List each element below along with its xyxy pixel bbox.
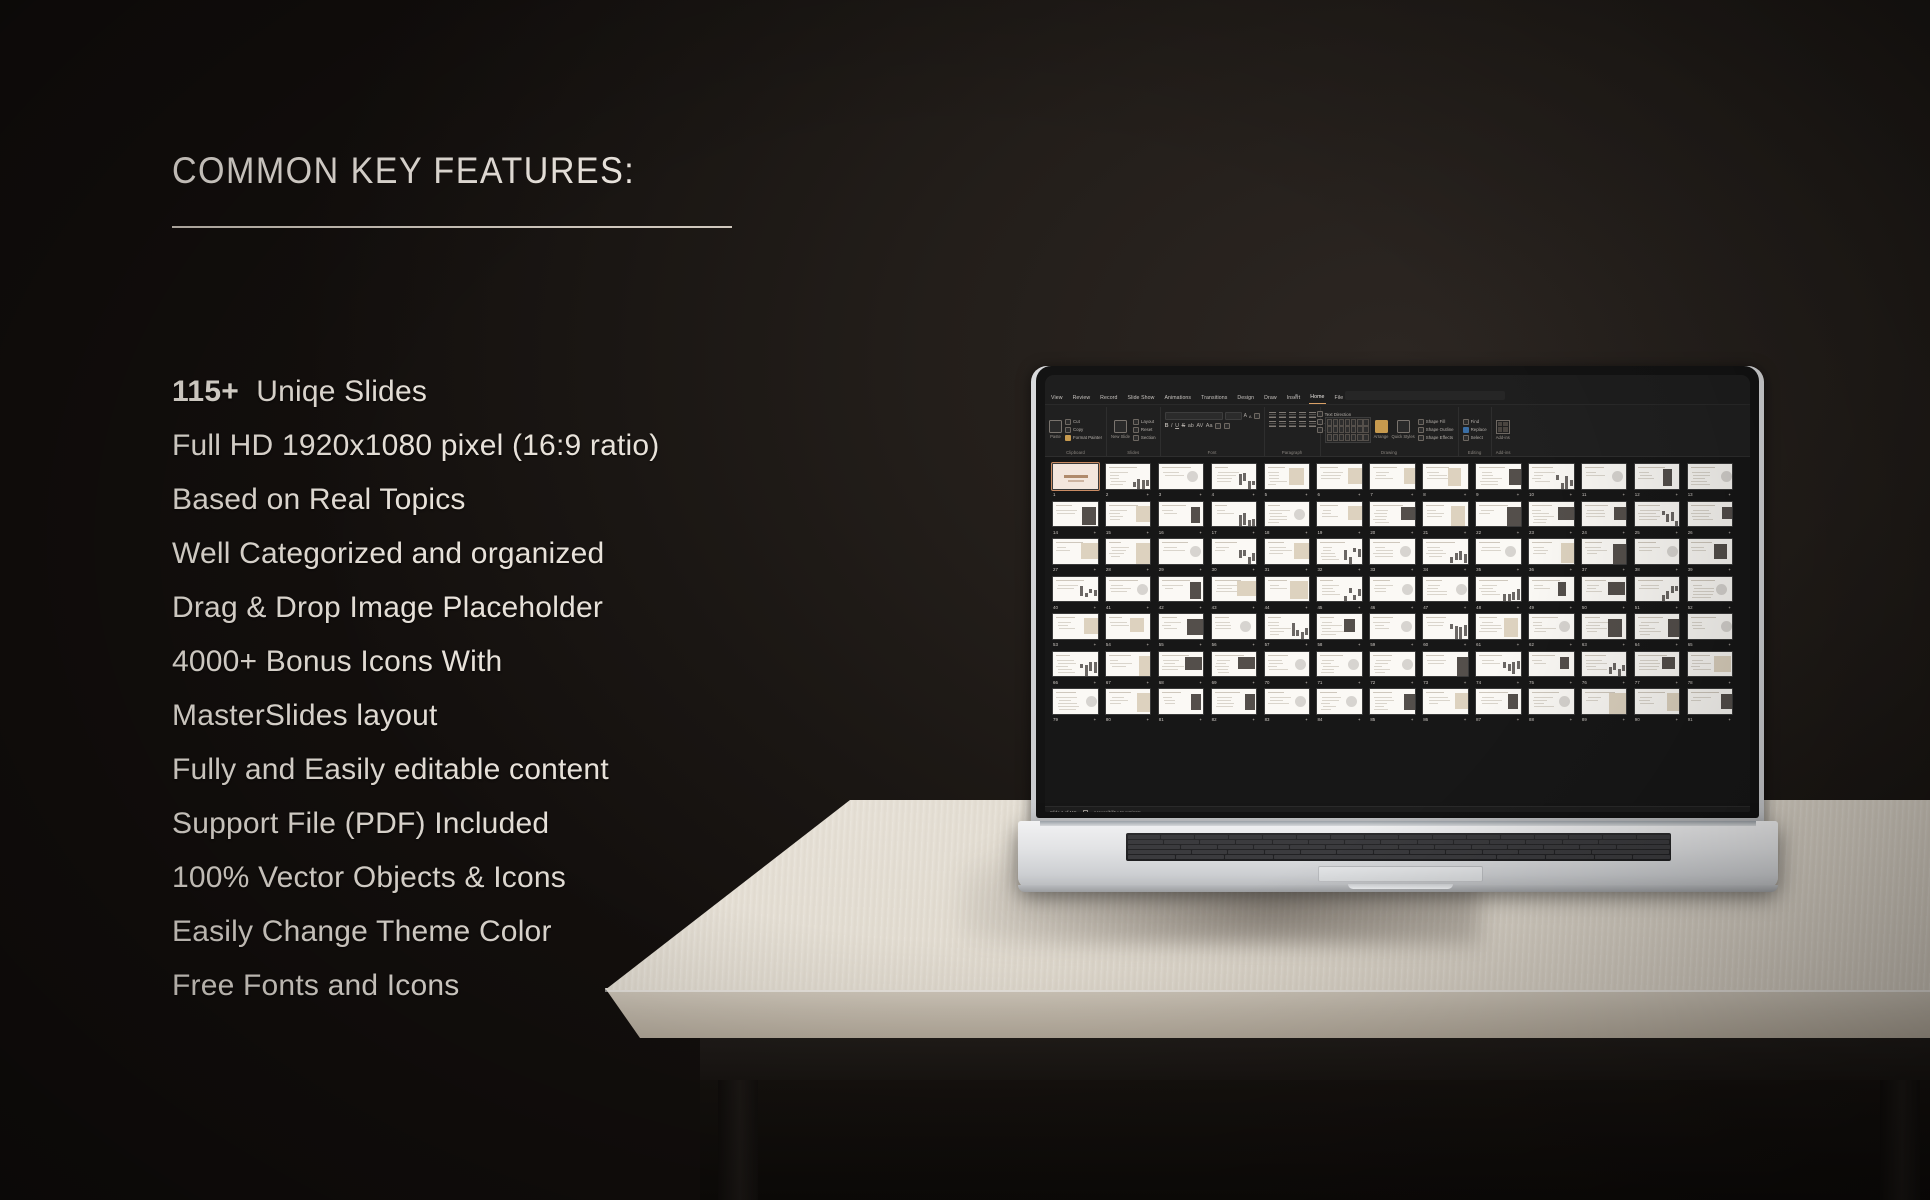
- slide-cell[interactable]: 41✦: [1105, 576, 1152, 612]
- align-center-icon[interactable]: [1279, 421, 1286, 427]
- slide-cell[interactable]: 27✦: [1052, 538, 1099, 574]
- shape-swatch[interactable]: [1363, 434, 1369, 441]
- slide-cell[interactable]: 48✦: [1475, 576, 1522, 612]
- slide-thumbnail[interactable]: [1105, 463, 1152, 490]
- slide-cell[interactable]: 74✦: [1475, 651, 1522, 687]
- slide-cell[interactable]: 90✦: [1634, 688, 1681, 724]
- add-ins-button[interactable]: Add-ins: [1496, 420, 1510, 440]
- copy-button[interactable]: Copy: [1065, 427, 1102, 433]
- ribbon-tab-review[interactable]: Review: [1072, 395, 1092, 404]
- increase-indent-icon[interactable]: [1299, 412, 1306, 418]
- keyboard-key[interactable]: [1236, 840, 1271, 844]
- keyboard-key[interactable]: [1519, 850, 1554, 854]
- slide-thumbnail[interactable]: [1316, 538, 1363, 565]
- keyboard-key[interactable]: [1337, 850, 1372, 854]
- slide-transition-icon[interactable]: ✦: [1569, 642, 1572, 647]
- slide-cell[interactable]: 69✦: [1211, 651, 1258, 687]
- keyboard-key[interactable]: [1617, 845, 1670, 849]
- slide-thumbnail[interactable]: [1422, 463, 1469, 490]
- slide-cell[interactable]: 11✦: [1581, 463, 1628, 499]
- slide-transition-icon[interactable]: ✦: [1093, 530, 1096, 535]
- slide-transition-icon[interactable]: ✦: [1516, 492, 1519, 497]
- slide-transition-icon[interactable]: ✦: [1305, 492, 1308, 497]
- slide-transition-icon[interactable]: ✦: [1463, 605, 1466, 610]
- slide-thumbnail[interactable]: [1528, 651, 1575, 678]
- slide-transition-icon[interactable]: ✦: [1410, 530, 1413, 535]
- ribbon-tab-insert[interactable]: Insert: [1286, 395, 1302, 404]
- slide-transition-icon[interactable]: ✦: [1728, 530, 1731, 535]
- slide-thumbnail[interactable]: [1264, 501, 1311, 528]
- slide-thumbnail[interactable]: [1581, 501, 1628, 528]
- ribbon-group-font[interactable]: A A B I U S ab AV Aa: [1161, 407, 1265, 456]
- slide-cell[interactable]: 57✦: [1264, 613, 1311, 649]
- keyboard-key[interactable]: [1490, 840, 1525, 844]
- slide-thumbnail[interactable]: [1264, 538, 1311, 565]
- slide-cell[interactable]: 89✦: [1581, 688, 1628, 724]
- slide-thumbnail[interactable]: [1475, 463, 1522, 490]
- text-highlight-icon[interactable]: [1215, 423, 1221, 429]
- slide-cell[interactable]: 9✦: [1475, 463, 1522, 499]
- shape-swatch[interactable]: [1351, 434, 1357, 441]
- ribbon-group-drawing[interactable]: Arrange Quick Styles Shape Fill Shape Ou…: [1321, 407, 1459, 456]
- shape-swatch[interactable]: [1333, 426, 1339, 433]
- ribbon-tab-strip[interactable]: ViewReviewRecordSlide ShowAnimationsTran…: [1045, 388, 1750, 405]
- slide-thumbnail[interactable]: [1687, 538, 1734, 565]
- italic-button[interactable]: I: [1171, 423, 1173, 429]
- keyboard-key[interactable]: [1164, 840, 1199, 844]
- ribbon-tab-file[interactable]: File: [1334, 395, 1345, 404]
- slide-cell[interactable]: 91✦: [1687, 688, 1734, 724]
- keyboard-key[interactable]: [1435, 845, 1470, 849]
- underline-button[interactable]: U: [1175, 423, 1179, 429]
- slide-transition-icon[interactable]: ✦: [1622, 642, 1625, 647]
- keyboard-key[interactable]: [1365, 835, 1398, 839]
- font-size-select[interactable]: [1225, 412, 1242, 420]
- slide-thumbnail[interactable]: [1369, 651, 1416, 678]
- slide-transition-icon[interactable]: ✦: [1252, 605, 1255, 610]
- slide-cell[interactable]: 55✦: [1158, 613, 1205, 649]
- keyboard-key[interactable]: [1309, 840, 1344, 844]
- slide-transition-icon[interactable]: ✦: [1675, 530, 1678, 535]
- keyboard-key[interactable]: [1399, 845, 1434, 849]
- shapes-gallery[interactable]: [1325, 417, 1371, 443]
- slide-transition-icon[interactable]: ✦: [1199, 642, 1202, 647]
- slide-cell[interactable]: 36✦: [1528, 538, 1575, 574]
- slide-thumbnail[interactable]: [1634, 501, 1681, 528]
- slide-thumbnail[interactable]: [1687, 576, 1734, 603]
- slide-transition-icon[interactable]: ✦: [1410, 492, 1413, 497]
- slide-cell[interactable]: 12✦: [1634, 463, 1681, 499]
- slide-cell[interactable]: 1: [1052, 463, 1099, 499]
- slide-cell[interactable]: 82✦: [1211, 688, 1258, 724]
- slide-transition-icon[interactable]: ✦: [1622, 492, 1625, 497]
- ribbon-group-clipboard[interactable]: Paste Cut Copy Format Painter Clipboard: [1045, 407, 1107, 456]
- slide-transition-icon[interactable]: ✦: [1675, 492, 1678, 497]
- slide-thumbnail[interactable]: [1316, 613, 1363, 640]
- search-input[interactable]: [1345, 391, 1505, 400]
- strikethrough-button[interactable]: S: [1182, 423, 1186, 429]
- slide-cell[interactable]: 49✦: [1528, 576, 1575, 612]
- shape-outline-button[interactable]: Shape Outline: [1418, 427, 1454, 433]
- slide-cell[interactable]: 61✦: [1475, 613, 1522, 649]
- slide-thumbnail[interactable]: [1052, 688, 1099, 715]
- slide-thumbnail[interactable]: [1369, 538, 1416, 565]
- keyboard-key[interactable]: [1290, 845, 1325, 849]
- slide-transition-icon[interactable]: ✦: [1358, 605, 1361, 610]
- slide-thumbnail[interactable]: [1687, 651, 1734, 678]
- slide-cell[interactable]: 5✦: [1264, 463, 1311, 499]
- keyboard-key[interactable]: [1381, 840, 1416, 844]
- keyboard-key[interactable]: [1454, 840, 1489, 844]
- slide-transition-icon[interactable]: ✦: [1252, 530, 1255, 535]
- slide-transition-icon[interactable]: ✦: [1252, 717, 1255, 722]
- slide-transition-icon[interactable]: ✦: [1305, 605, 1308, 610]
- keyboard-key[interactable]: [1297, 835, 1330, 839]
- ribbon-tab-design[interactable]: Design: [1236, 395, 1255, 404]
- slide-cell[interactable]: 18✦: [1264, 501, 1311, 537]
- replace-button[interactable]: Replace: [1463, 427, 1487, 433]
- slide-cell[interactable]: 24✦: [1581, 501, 1628, 537]
- slide-transition-icon[interactable]: ✦: [1516, 605, 1519, 610]
- ribbon-tab-view[interactable]: View: [1050, 395, 1064, 404]
- slide-cell[interactable]: 47✦: [1422, 576, 1469, 612]
- slide-cell[interactable]: 8✦: [1422, 463, 1469, 499]
- keyboard-key[interactable]: [1192, 850, 1227, 854]
- clear-formatting-icon[interactable]: [1254, 413, 1260, 419]
- slide-transition-icon[interactable]: ✦: [1675, 717, 1678, 722]
- keyboard-key[interactable]: [1483, 850, 1518, 854]
- columns-icon[interactable]: [1309, 421, 1316, 427]
- align-left-icon[interactable]: [1269, 421, 1276, 427]
- slide-cell[interactable]: 35✦: [1475, 538, 1522, 574]
- keyboard-key[interactable]: [1274, 855, 1495, 859]
- keyboard-key[interactable]: [1418, 840, 1453, 844]
- slide-thumbnail[interactable]: [1264, 576, 1311, 603]
- slide-transition-icon[interactable]: ✦: [1305, 717, 1308, 722]
- keyboard-key[interactable]: [1195, 835, 1228, 839]
- slide-thumbnail[interactable]: [1052, 538, 1099, 565]
- shape-swatch[interactable]: [1327, 434, 1333, 441]
- slide-thumbnail[interactable]: [1634, 651, 1681, 678]
- slide-thumbnail[interactable]: [1369, 613, 1416, 640]
- line-spacing-icon[interactable]: [1309, 412, 1316, 418]
- slide-transition-icon[interactable]: ✦: [1516, 680, 1519, 685]
- keyboard-key[interactable]: [1229, 835, 1262, 839]
- slide-transition-icon[interactable]: ✦: [1622, 605, 1625, 610]
- slide-cell[interactable]: 23✦: [1528, 501, 1575, 537]
- slide-transition-icon[interactable]: ✦: [1622, 530, 1625, 535]
- slide-cell[interactable]: 52✦: [1687, 576, 1734, 612]
- slide-transition-icon[interactable]: ✦: [1252, 492, 1255, 497]
- slide-cell[interactable]: 64✦: [1634, 613, 1681, 649]
- slide-thumbnail[interactable]: [1211, 651, 1258, 678]
- keyboard-key[interactable]: [1301, 850, 1336, 854]
- slide-thumbnail[interactable]: [1316, 463, 1363, 490]
- slide-cell[interactable]: 40✦: [1052, 576, 1099, 612]
- slide-transition-icon[interactable]: ✦: [1358, 717, 1361, 722]
- slide-thumbnail[interactable]: [1158, 463, 1205, 490]
- keyboard-key[interactable]: [1331, 835, 1364, 839]
- slide-thumbnail[interactable]: [1369, 501, 1416, 528]
- slide-transition-icon[interactable]: ✦: [1199, 605, 1202, 610]
- bullets-icon[interactable]: [1269, 412, 1276, 418]
- slide-transition-icon[interactable]: ✦: [1622, 680, 1625, 685]
- slide-thumbnail[interactable]: [1581, 538, 1628, 565]
- slide-thumbnail[interactable]: [1687, 688, 1734, 715]
- slide-thumbnail[interactable]: [1316, 651, 1363, 678]
- slide-transition-icon[interactable]: ✦: [1199, 530, 1202, 535]
- slide-thumbnail[interactable]: [1211, 538, 1258, 565]
- shape-swatch[interactable]: [1363, 419, 1369, 426]
- slide-thumbnail[interactable]: [1211, 613, 1258, 640]
- slide-transition-icon[interactable]: ✦: [1728, 680, 1731, 685]
- slide-cell[interactable]: 75✦: [1528, 651, 1575, 687]
- keyboard-key[interactable]: [1508, 845, 1543, 849]
- keyboard-key[interactable]: [1176, 855, 1224, 859]
- slide-transition-icon[interactable]: ✦: [1199, 567, 1202, 572]
- keyboard-key[interactable]: [1433, 835, 1466, 839]
- accessibility-icon[interactable]: [1083, 810, 1088, 813]
- slide-transition-icon[interactable]: ✦: [1358, 530, 1361, 535]
- align-right-icon[interactable]: [1289, 421, 1296, 427]
- slide-thumbnail[interactable]: [1422, 538, 1469, 565]
- slide-transition-icon[interactable]: ✦: [1093, 567, 1096, 572]
- keyboard-key[interactable]: [1181, 845, 1216, 849]
- slide-thumbnail[interactable]: [1528, 576, 1575, 603]
- keyboard-key[interactable]: [1526, 840, 1561, 844]
- slide-cell[interactable]: 46✦: [1369, 576, 1416, 612]
- ribbon-group-paragraph[interactable]: Text Direction Align Text Convert to Sma…: [1265, 407, 1321, 456]
- slide-cell[interactable]: 83✦: [1264, 688, 1311, 724]
- font-color-icon[interactable]: [1224, 423, 1230, 429]
- slide-thumbnail[interactable]: [1581, 688, 1628, 715]
- slide-transition-icon[interactable]: ✦: [1358, 492, 1361, 497]
- slide-thumbnail[interactable]: [1634, 613, 1681, 640]
- shadow-button[interactable]: ab: [1188, 423, 1194, 429]
- keyboard-key[interactable]: [1263, 835, 1296, 839]
- slide-transition-icon[interactable]: ✦: [1358, 680, 1361, 685]
- slide-thumbnail[interactable]: [1581, 463, 1628, 490]
- slide-thumbnail[interactable]: [1105, 501, 1152, 528]
- slide-transition-icon[interactable]: ✦: [1463, 492, 1466, 497]
- font-family-select[interactable]: [1165, 412, 1223, 420]
- slide-cell[interactable]: 14✦: [1052, 501, 1099, 537]
- quick-styles-button[interactable]: Quick Styles: [1391, 420, 1414, 439]
- slide-thumbnail[interactable]: [1528, 688, 1575, 715]
- slide-cell[interactable]: 77✦: [1634, 651, 1681, 687]
- shape-swatch[interactable]: [1333, 419, 1339, 426]
- slide-thumbnail[interactable]: [1052, 463, 1099, 490]
- slide-cell[interactable]: 65✦: [1687, 613, 1734, 649]
- slide-transition-icon[interactable]: ✦: [1199, 680, 1202, 685]
- slide-thumbnail[interactable]: [1158, 651, 1205, 678]
- slide-cell[interactable]: 59✦: [1369, 613, 1416, 649]
- slide-transition-icon[interactable]: ✦: [1146, 567, 1149, 572]
- slide-cell[interactable]: 84✦: [1316, 688, 1363, 724]
- slide-thumbnail[interactable]: [1369, 576, 1416, 603]
- slide-thumbnail[interactable]: [1316, 576, 1363, 603]
- slide-cell[interactable]: 62✦: [1528, 613, 1575, 649]
- slide-transition-icon[interactable]: ✦: [1675, 642, 1678, 647]
- bold-button[interactable]: B: [1165, 423, 1169, 429]
- keyboard-key[interactable]: [1161, 835, 1194, 839]
- slide-cell[interactable]: 3✦: [1158, 463, 1205, 499]
- slide-thumbnail[interactable]: [1687, 463, 1734, 490]
- slide-transition-icon[interactable]: ✦: [1516, 530, 1519, 535]
- change-case-button[interactable]: Aa: [1206, 423, 1213, 429]
- ribbon-group-slides[interactable]: New Slide Layout Reset Section Slides: [1107, 407, 1161, 456]
- slide-thumbnail[interactable]: [1369, 463, 1416, 490]
- slide-transition-icon[interactable]: ✦: [1463, 530, 1466, 535]
- keyboard-key[interactable]: [1374, 850, 1409, 854]
- slide-thumbnail[interactable]: [1158, 538, 1205, 565]
- slide-cell[interactable]: 2✦: [1105, 463, 1152, 499]
- slide-cell[interactable]: 81✦: [1158, 688, 1205, 724]
- cut-button[interactable]: Cut: [1065, 419, 1102, 425]
- slide-transition-icon[interactable]: ✦: [1569, 605, 1572, 610]
- slide-transition-icon[interactable]: ✦: [1146, 492, 1149, 497]
- slide-thumbnail[interactable]: [1105, 651, 1152, 678]
- slide-cell[interactable]: 7✦: [1369, 463, 1416, 499]
- keyboard-key[interactable]: [1555, 850, 1590, 854]
- slide-thumbnail[interactable]: [1052, 613, 1099, 640]
- slide-transition-icon[interactable]: ✦: [1358, 567, 1361, 572]
- shape-swatch[interactable]: [1345, 434, 1351, 441]
- slide-cell[interactable]: 71✦: [1316, 651, 1363, 687]
- slide-thumbnail[interactable]: [1687, 501, 1734, 528]
- slide-cell[interactable]: 21✦: [1422, 501, 1469, 537]
- keyboard-key[interactable]: [1128, 850, 1192, 854]
- slide-transition-icon[interactable]: ✦: [1093, 642, 1096, 647]
- slide-cell[interactable]: 87✦: [1475, 688, 1522, 724]
- ribbon-group-addins[interactable]: Add-ins Add-ins: [1492, 407, 1515, 456]
- slide-cell[interactable]: 42✦: [1158, 576, 1205, 612]
- slide-thumbnail[interactable]: [1158, 576, 1205, 603]
- keyboard-key[interactable]: [1569, 835, 1602, 839]
- slide-cell[interactable]: 30✦: [1211, 538, 1258, 574]
- slide-transition-icon[interactable]: ✦: [1410, 567, 1413, 572]
- shape-swatch[interactable]: [1357, 434, 1363, 441]
- slide-cell[interactable]: 54✦: [1105, 613, 1152, 649]
- slide-transition-icon[interactable]: ✦: [1675, 567, 1678, 572]
- slide-thumbnail[interactable]: [1211, 576, 1258, 603]
- search-icon[interactable]: [1295, 394, 1298, 397]
- justify-icon[interactable]: [1299, 421, 1306, 427]
- shape-swatch[interactable]: [1345, 419, 1351, 426]
- shape-effects-button[interactable]: Shape Effects: [1418, 435, 1454, 441]
- slide-cell[interactable]: 22✦: [1475, 501, 1522, 537]
- slide-transition-icon[interactable]: ✦: [1728, 605, 1731, 610]
- slide-transition-icon[interactable]: ✦: [1516, 642, 1519, 647]
- slide-thumbnail[interactable]: [1422, 688, 1469, 715]
- slide-transition-icon[interactable]: ✦: [1093, 605, 1096, 610]
- slide-cell[interactable]: 15✦: [1105, 501, 1152, 537]
- ribbon-tab-draw[interactable]: Draw: [1263, 395, 1278, 404]
- keyboard-key[interactable]: [1254, 845, 1289, 849]
- keyboard-key[interactable]: [1228, 850, 1263, 854]
- keyboard-key[interactable]: [1467, 835, 1500, 839]
- slide-cell[interactable]: 17✦: [1211, 501, 1258, 537]
- accessibility-status[interactable]: Accessibility: Investigate: [1094, 810, 1142, 813]
- slide-cell[interactable]: 79✦: [1052, 688, 1099, 724]
- keyboard-key[interactable]: [1599, 840, 1670, 844]
- slide-transition-icon[interactable]: ✦: [1463, 642, 1466, 647]
- shape-swatch[interactable]: [1363, 426, 1369, 433]
- slide-cell[interactable]: 63✦: [1581, 613, 1628, 649]
- keyboard-key[interactable]: [1535, 835, 1568, 839]
- slide-thumbnail[interactable]: [1211, 501, 1258, 528]
- shape-swatch[interactable]: [1339, 434, 1345, 441]
- slide-transition-icon[interactable]: ✦: [1093, 680, 1096, 685]
- trackpad[interactable]: [1318, 866, 1483, 882]
- slide-transition-icon[interactable]: ✦: [1305, 680, 1308, 685]
- slide-thumbnail[interactable]: [1105, 613, 1152, 640]
- keyboard-key[interactable]: [1265, 850, 1300, 854]
- slide-thumbnail[interactable]: [1634, 463, 1681, 490]
- slide-cell[interactable]: 60✦: [1422, 613, 1469, 649]
- ribbon-tab-transitions[interactable]: Transitions: [1200, 395, 1228, 404]
- keyboard-key[interactable]: [1410, 850, 1445, 854]
- slide-thumbnail[interactable]: [1634, 538, 1681, 565]
- slide-transition-icon[interactable]: ✦: [1410, 717, 1413, 722]
- slide-thumbnail[interactable]: [1105, 538, 1152, 565]
- keyboard-key[interactable]: [1363, 845, 1398, 849]
- slide-transition-icon[interactable]: ✦: [1728, 642, 1731, 647]
- slide-cell[interactable]: 10✦: [1528, 463, 1575, 499]
- slide-thumbnail[interactable]: [1422, 651, 1469, 678]
- slide-thumbnail[interactable]: [1475, 576, 1522, 603]
- slide-transition-icon[interactable]: ✦: [1463, 680, 1466, 685]
- slide-cell[interactable]: 88✦: [1528, 688, 1575, 724]
- slide-thumbnail[interactable]: [1422, 501, 1469, 528]
- slide-thumbnail[interactable]: [1634, 688, 1681, 715]
- slide-transition-icon[interactable]: ✦: [1728, 492, 1731, 497]
- slide-cell[interactable]: 32✦: [1316, 538, 1363, 574]
- slide-thumbnail[interactable]: [1211, 463, 1258, 490]
- slide-cell[interactable]: 86✦: [1422, 688, 1469, 724]
- keyboard-key[interactable]: [1580, 845, 1615, 849]
- keyboard-key[interactable]: [1497, 855, 1545, 859]
- slide-cell[interactable]: 58✦: [1316, 613, 1363, 649]
- slide-transition-icon[interactable]: ✦: [1199, 717, 1202, 722]
- slide-cell[interactable]: 44✦: [1264, 576, 1311, 612]
- slide-cell[interactable]: 4✦: [1211, 463, 1258, 499]
- slide-thumbnail[interactable]: [1475, 501, 1522, 528]
- slide-cell[interactable]: 16✦: [1158, 501, 1205, 537]
- slide-transition-icon[interactable]: ✦: [1146, 530, 1149, 535]
- slide-thumbnail[interactable]: [1264, 463, 1311, 490]
- slide-cell[interactable]: 38✦: [1634, 538, 1681, 574]
- slide-transition-icon[interactable]: ✦: [1305, 642, 1308, 647]
- paste-button[interactable]: Paste: [1049, 420, 1062, 439]
- slide-transition-icon[interactable]: ✦: [1728, 717, 1731, 722]
- shape-swatch[interactable]: [1357, 426, 1363, 433]
- slide-cell[interactable]: 39✦: [1687, 538, 1734, 574]
- keyboard[interactable]: [1126, 833, 1671, 861]
- slide-transition-icon[interactable]: ✦: [1252, 567, 1255, 572]
- keyboard-key[interactable]: [1563, 840, 1598, 844]
- shape-swatch[interactable]: [1339, 426, 1345, 433]
- slide-transition-icon[interactable]: ✦: [1675, 680, 1678, 685]
- decrease-font-size-icon[interactable]: A: [1249, 414, 1252, 419]
- shape-swatch[interactable]: [1339, 419, 1345, 426]
- slide-thumbnail[interactable]: [1264, 613, 1311, 640]
- new-slide-button[interactable]: New Slide: [1111, 420, 1130, 439]
- slide-cell[interactable]: 73✦: [1422, 651, 1469, 687]
- slide-transition-icon[interactable]: ✦: [1199, 492, 1202, 497]
- slide-transition-icon[interactable]: ✦: [1146, 642, 1149, 647]
- slide-thumbnail[interactable]: [1052, 501, 1099, 528]
